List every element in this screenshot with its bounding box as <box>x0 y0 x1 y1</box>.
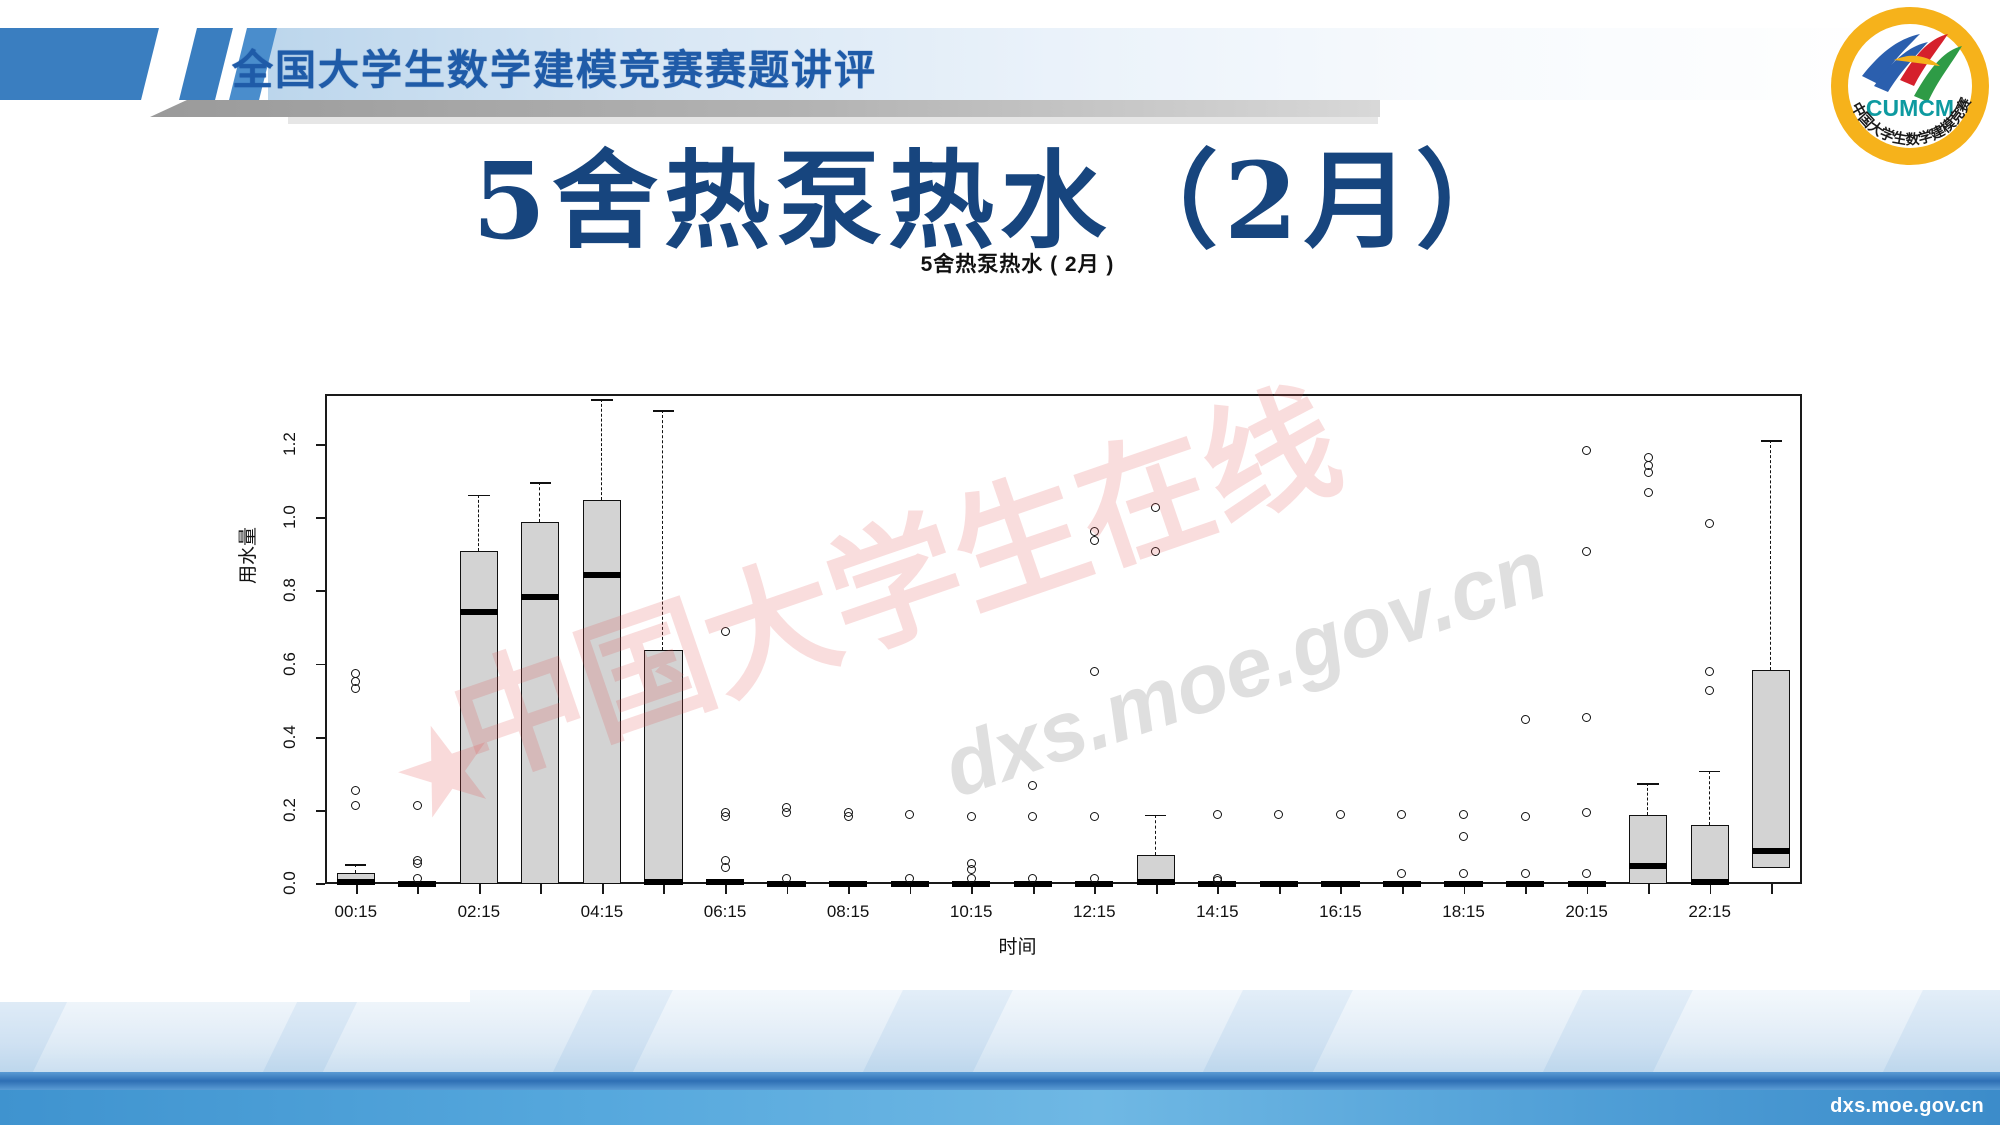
boxplot-box[interactable] <box>1137 394 1175 884</box>
boxplot-box[interactable] <box>706 394 744 884</box>
y-axis-tick <box>316 737 325 739</box>
x-axis-tick <box>1710 884 1712 894</box>
plot-area: 0.00.20.40.60.81.01.200:1502:1504:1506:1… <box>325 394 1802 884</box>
x-axis-tick <box>540 884 542 894</box>
x-axis-tick <box>725 884 727 894</box>
boxplot-whisker-cap-upper <box>1637 783 1658 785</box>
boxplot-iqr-rect <box>521 522 559 884</box>
boxplot-iqr-rect <box>1752 670 1790 867</box>
boxplot-whisker-upper <box>539 482 540 522</box>
x-axis-title: 时间 <box>215 932 1820 959</box>
boxplot-box[interactable] <box>644 394 682 884</box>
boxplot-outlier <box>1090 812 1099 821</box>
boxplot-whisker-cap-upper <box>345 864 366 866</box>
x-axis-tick-label: 22:15 <box>1670 902 1750 922</box>
y-axis-tick-label: 1.2 <box>280 421 300 467</box>
y-axis-tick <box>316 444 325 446</box>
boxplot-box[interactable] <box>337 394 375 884</box>
slide-white-panel <box>0 990 470 1002</box>
y-axis-tick-label: 0.2 <box>280 787 300 833</box>
x-axis-tick-label: 14:15 <box>1177 902 1257 922</box>
boxplot-outlier <box>1090 536 1099 545</box>
boxplot-box[interactable] <box>1198 394 1236 884</box>
boxplot-outlier <box>413 801 422 810</box>
boxplot-whisker-cap-upper <box>530 482 551 484</box>
boxplot-outlier <box>1521 869 1530 878</box>
header-gray-bar-shadow <box>288 117 1378 124</box>
boxplot-outlier <box>1582 713 1591 722</box>
boxplot-outlier <box>1705 686 1714 695</box>
page-title: 5舍热泵热水（2月） <box>0 136 2000 265</box>
boxplot-outlier <box>1090 667 1099 676</box>
boxplot-outlier <box>413 874 422 883</box>
boxplot-flat-line <box>1444 881 1482 887</box>
boxplot-whisker-cap-upper <box>1145 815 1166 817</box>
boxplot-outlier <box>1397 869 1406 878</box>
x-axis-tick <box>1156 884 1158 894</box>
boxplot-outlier <box>1459 832 1468 841</box>
boxplot-box[interactable] <box>1568 394 1606 884</box>
boxplot-outlier <box>782 874 791 883</box>
boxplot-outlier <box>1028 812 1037 821</box>
cumcm-logo: CUMCM 中国大学生数学建模竞赛 <box>1828 4 1992 168</box>
boxplot-box[interactable] <box>1752 394 1790 884</box>
boxplot-outlier <box>721 627 730 636</box>
y-axis-tick <box>316 517 325 519</box>
boxplot-box[interactable] <box>1014 394 1052 884</box>
boxplot-flat-line <box>1260 881 1298 887</box>
boxplot-median-line <box>337 879 375 885</box>
boxplot-outlier <box>1521 715 1530 724</box>
boxplot-outlier <box>1521 812 1530 821</box>
x-axis-tick-label: 06:15 <box>685 902 765 922</box>
x-axis-tick-label: 00:15 <box>316 902 396 922</box>
boxplot-whisker-cap-upper <box>1761 440 1782 442</box>
y-axis-tick <box>316 590 325 592</box>
boxplot-outlier <box>1274 810 1283 819</box>
x-axis-tick-label: 08:15 <box>808 902 888 922</box>
x-axis-tick-label: 04:15 <box>562 902 642 922</box>
boxplot-flat-line <box>1568 881 1606 887</box>
boxplot-whisker-upper <box>1155 815 1156 855</box>
boxplot-outlier <box>782 808 791 817</box>
boxplot-outlier <box>1459 869 1468 878</box>
boxplot-outlier <box>844 812 853 821</box>
chart-panel: 5舍热泵热水 ( 2月 ) 用水量 时间 0.00.20.40.60.81.01… <box>215 292 1820 792</box>
boxplot-whisker-cap-upper <box>468 495 489 497</box>
slide-footer: dxs.moe.gov.cn <box>0 1090 2000 1125</box>
boxplot-box[interactable] <box>767 394 805 884</box>
boxplot-whisker-cap-upper <box>653 410 674 412</box>
boxplot-outlier <box>1582 869 1591 878</box>
boxplot-flat-line <box>1321 881 1359 887</box>
boxplot-box[interactable] <box>1383 394 1421 884</box>
boxplot-median-line <box>706 879 744 885</box>
boxplot-outlier <box>1644 488 1653 497</box>
y-axis-tick-label: 0.6 <box>280 641 300 687</box>
x-axis-tick <box>1771 884 1773 894</box>
boxplot-outlier <box>967 865 976 874</box>
boxplot-median-line <box>521 594 559 600</box>
footer-url: dxs.moe.gov.cn <box>1830 1095 1984 1118</box>
boxplot-median-line <box>1629 863 1667 869</box>
boxplot-box[interactable] <box>1506 394 1544 884</box>
boxplot-whisker-upper <box>1770 440 1771 670</box>
y-axis-tick-label: 1.0 <box>280 494 300 540</box>
boxplot-whisker-cap-upper <box>591 399 612 401</box>
boxplot-whisker-upper <box>601 399 602 500</box>
y-axis-tick <box>316 810 325 812</box>
boxplot-outlier <box>1397 810 1406 819</box>
y-axis-tick <box>316 883 325 885</box>
boxplot-outlier <box>351 684 360 693</box>
x-axis-tick-label: 12:15 <box>1054 902 1134 922</box>
boxplot-outlier <box>1213 876 1222 885</box>
boxplot-outlier <box>721 812 730 821</box>
boxplot-median-line <box>1137 879 1175 885</box>
x-axis-tick-label: 20:15 <box>1547 902 1627 922</box>
boxplot-median-line <box>1752 848 1790 854</box>
boxplot-flat-line <box>829 881 867 887</box>
boxplot-whisker-upper <box>478 495 479 552</box>
boxplot-iqr-rect <box>460 551 498 884</box>
boxplot-box[interactable] <box>398 394 436 884</box>
boxplot-outlier <box>1028 781 1037 790</box>
x-axis-tick <box>1648 884 1650 894</box>
boxplot-median-line <box>644 879 682 885</box>
boxplot-outlier <box>1213 810 1222 819</box>
x-axis-tick <box>479 884 481 894</box>
boxplot-box[interactable] <box>829 394 867 884</box>
boxplot-median-line <box>583 572 621 578</box>
boxplot-outlier <box>905 810 914 819</box>
boxplot-box[interactable] <box>1629 394 1667 884</box>
slide-bottom-stripe <box>0 1072 2000 1090</box>
boxplot-outlier <box>721 863 730 872</box>
boxplot-flat-line <box>1383 881 1421 887</box>
boxplot-outlier <box>967 812 976 821</box>
x-axis-tick-label: 02:15 <box>439 902 519 922</box>
boxplot-box[interactable] <box>583 394 621 884</box>
x-axis-tick-label: 10:15 <box>931 902 1011 922</box>
y-axis-title: 用水量 <box>233 527 260 584</box>
y-axis-tick-label: 0.8 <box>280 567 300 613</box>
boxplot-outlier <box>1644 468 1653 477</box>
boxplot-outlier <box>351 786 360 795</box>
boxplot-whisker-upper <box>662 410 663 650</box>
slide-header: 全国大学生数学建模竞赛赛题讲评 <box>0 0 2000 132</box>
boxplot-outlier <box>1151 547 1160 556</box>
x-axis-tick-label: 16:15 <box>1300 902 1380 922</box>
boxplot-iqr-rect <box>1691 825 1729 884</box>
x-axis-tick <box>356 884 358 894</box>
logo-acronym: CUMCM <box>1866 95 1954 121</box>
boxplot-outlier <box>1459 810 1468 819</box>
boxplot-box[interactable] <box>1075 394 1113 884</box>
boxplot-box[interactable] <box>952 394 990 884</box>
boxplot-outlier <box>1090 874 1099 883</box>
x-axis-tick <box>602 884 604 894</box>
boxplot-box[interactable] <box>891 394 929 884</box>
boxplot-iqr-rect <box>1629 815 1667 884</box>
boxplot-outlier <box>1090 527 1099 536</box>
boxplot-outlier <box>1582 547 1591 556</box>
boxplot-whisker-upper <box>1709 771 1710 826</box>
boxplot-box[interactable] <box>1321 394 1359 884</box>
boxplot-box[interactable] <box>1260 394 1298 884</box>
boxplot-box[interactable] <box>460 394 498 884</box>
y-axis-tick <box>316 664 325 666</box>
boxplot-median-line <box>1691 879 1729 885</box>
header-title: 全国大学生数学建模竞赛赛题讲评 <box>232 36 877 96</box>
boxplot-outlier <box>1582 446 1591 455</box>
boxplot-whisker-cap-upper <box>1699 771 1720 773</box>
boxplot-box[interactable] <box>521 394 559 884</box>
boxplot-outlier <box>1336 810 1345 819</box>
y-axis-tick-label: 0.4 <box>280 714 300 760</box>
cumcm-logo-svg: CUMCM 中国大学生数学建模竞赛 <box>1828 4 1992 168</box>
x-axis-tick <box>663 884 665 894</box>
boxplot-outlier <box>351 801 360 810</box>
boxplot-iqr-rect <box>583 500 621 884</box>
x-axis-tick-label: 18:15 <box>1424 902 1504 922</box>
boxplot-median-line <box>460 609 498 615</box>
boxplot-iqr-rect <box>644 650 682 884</box>
header-gray-bar <box>150 100 1380 117</box>
boxplot-outlier <box>967 874 976 883</box>
boxplot-whisker-upper <box>1647 783 1648 814</box>
boxplot-outlier <box>1582 808 1591 817</box>
boxplot-outlier <box>1705 667 1714 676</box>
boxplot-outlier <box>1705 519 1714 528</box>
boxplot-box[interactable] <box>1444 394 1482 884</box>
boxplot-box[interactable] <box>1691 394 1729 884</box>
boxplot-outlier <box>1151 503 1160 512</box>
y-axis-tick-label: 0.0 <box>280 860 300 906</box>
boxplot-flat-line <box>1506 881 1544 887</box>
boxplot-outlier <box>413 859 422 868</box>
